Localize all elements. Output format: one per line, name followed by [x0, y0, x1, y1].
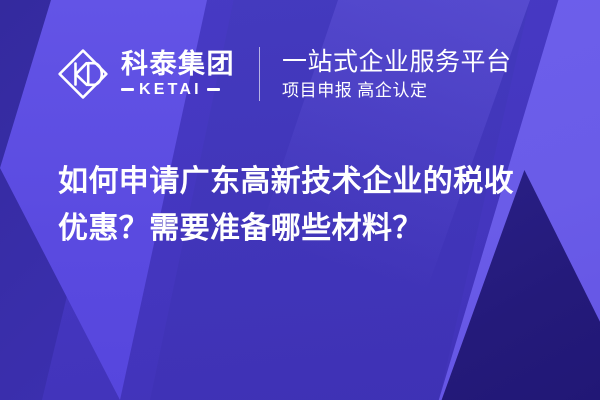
- logo-rule-left-icon: [121, 88, 134, 91]
- slogan-primary: 一站式企业服务平台: [282, 48, 512, 77]
- brand-logo[interactable]: 科泰集团 KETAI: [56, 47, 235, 101]
- logo-name-cn: 科泰集团: [121, 50, 235, 79]
- promo-banner: 科泰集团 KETAI 一站式企业服务平台 项目申报 高企认定 如何申请广东高新技…: [0, 0, 600, 400]
- banner-content: 科泰集团 KETAI 一站式企业服务平台 项目申报 高企认定 如何申请广东高新技…: [0, 0, 600, 400]
- headline-block: 如何申请广东高新技术企业的税收优惠？需要准备哪些材料？: [58, 158, 536, 252]
- banner-header: 科泰集团 KETAI 一站式企业服务平台 项目申报 高企认定: [56, 38, 512, 110]
- page-title: 如何申请广东高新技术企业的税收优惠？需要准备哪些材料？: [58, 158, 536, 252]
- logo-name-en: KETAI: [139, 81, 202, 98]
- logo-rule-right-icon: [207, 88, 220, 91]
- slogan-secondary: 项目申报 高企认定: [282, 81, 512, 101]
- logo-wordmark: 科泰集团 KETAI: [121, 50, 235, 98]
- ketai-diamond-kd-monogram-icon: [56, 47, 110, 101]
- logo-name-en-row: KETAI: [121, 81, 235, 98]
- brand-slogan: 一站式企业服务平台 项目申报 高企认定: [282, 48, 512, 101]
- vertical-divider-icon: [259, 47, 260, 101]
